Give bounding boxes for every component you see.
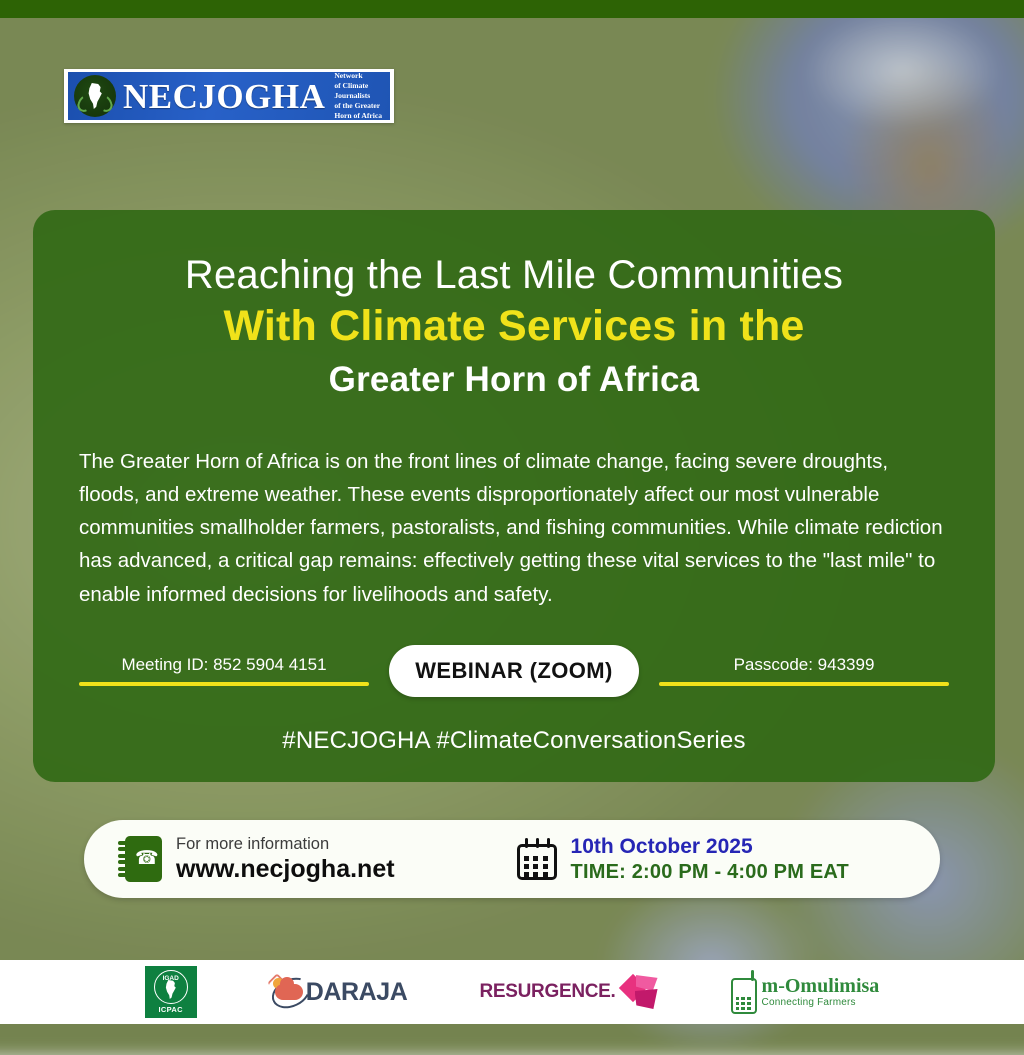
icpac-africa-shape	[163, 980, 178, 999]
calendar-icon	[517, 838, 557, 880]
meeting-id-block: Meeting ID: 852 5904 4151	[79, 655, 369, 686]
wreath-right-icon	[97, 93, 115, 113]
logo-inner-panel: NECJOGHA Network of Climate Journalists …	[68, 72, 390, 120]
omulimisa-wordmark: m-Omulimisa	[762, 975, 880, 997]
contact-info-label: For more information	[176, 834, 395, 855]
title-line-3: Greater Horn of Africa	[79, 359, 949, 401]
webinar-platform-badge[interactable]: WEBINAR (ZOOM)	[389, 645, 638, 697]
icpac-emblem-icon: IGAD	[154, 970, 188, 1004]
website-url[interactable]: www.necjogha.net	[176, 855, 395, 885]
partner-logo-icpac: IGAD ICPAC	[145, 966, 197, 1018]
event-card: Reaching the Last Mile Communities With …	[33, 210, 995, 782]
meeting-id-text: Meeting ID: 852 5904 4151	[79, 655, 369, 682]
daraja-wordmark: DARAJA	[306, 978, 408, 1007]
passcode-underline	[659, 682, 949, 686]
date-time-group: 10th October 2025 TIME: 2:00 PM - 4:00 P…	[517, 834, 849, 884]
mobile-phone-icon	[731, 970, 757, 1014]
phone-handset-glyph: ☎	[135, 847, 155, 871]
title-line-1: Reaching the Last Mile Communities	[79, 252, 949, 299]
partner-logo-omulimisa: m-Omulimisa Connecting Farmers	[731, 970, 880, 1014]
daraja-sun-cloud-icon	[269, 977, 303, 1007]
partner-logos-footer: IGAD ICPAC DARAJA RESURGENCE. m-Omulimis…	[0, 960, 1024, 1024]
partner-logo-resurgence: RESURGENCE.	[479, 975, 658, 1009]
title-line-2: With Climate Services in the	[79, 301, 949, 353]
event-date: 10th October 2025	[571, 834, 849, 860]
contact-info-group: ☎ For more information www.necjogha.net	[84, 834, 395, 884]
contact-text-group: For more information www.necjogha.net	[176, 834, 395, 884]
logo-wordmark: NECJOGHA	[123, 79, 325, 114]
omulimisa-tagline: Connecting Farmers	[762, 997, 880, 1009]
top-accent-band	[0, 0, 1024, 18]
icpac-label: ICPAC	[159, 1005, 183, 1014]
logo-tagline: Network of Climate Journalists of the Gr…	[334, 71, 384, 122]
contact-bar: ☎ For more information www.necjogha.net …	[84, 820, 940, 898]
title-block: Reaching the Last Mile Communities With …	[79, 252, 949, 401]
partner-logo-daraja: DARAJA	[269, 977, 408, 1007]
date-time-text: 10th October 2025 TIME: 2:00 PM - 4:00 P…	[571, 834, 849, 884]
event-description: The Greater Horn of Africa is on the fro…	[79, 445, 949, 611]
necjogha-logo: NECJOGHA Network of Climate Journalists …	[64, 69, 394, 123]
event-time: TIME: 2:00 PM - 4:00 PM EAT	[571, 860, 849, 884]
omulimisa-text-group: m-Omulimisa Connecting Farmers	[762, 975, 880, 1009]
phonebook-icon: ☎	[118, 836, 162, 882]
africa-wreath-icon	[74, 75, 116, 117]
passcode-block: Passcode: 943399	[659, 655, 949, 686]
meeting-id-underline	[79, 682, 369, 686]
hashtags: #NECJOGHA #ClimateConversationSeries	[79, 727, 949, 755]
passcode-text: Passcode: 943399	[659, 655, 949, 682]
meeting-details-row: Meeting ID: 852 5904 4151 WEBINAR (ZOOM)…	[79, 645, 949, 697]
resurgence-wordmark: RESURGENCE.	[479, 981, 615, 1003]
resurgence-mark-icon	[623, 975, 659, 1009]
